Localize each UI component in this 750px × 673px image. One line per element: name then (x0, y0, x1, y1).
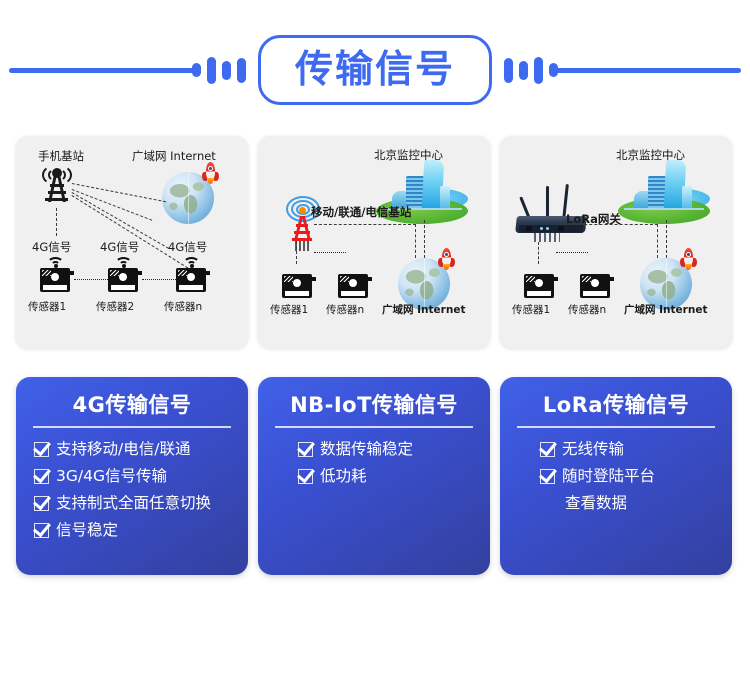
sensor-lens (591, 279, 599, 287)
diagram-label-basestation: 移动/联通/电信基站 (311, 204, 411, 220)
diagram-label-sensor-1: 传感器1 (512, 302, 550, 317)
tower-crossbar (294, 231, 310, 234)
feature-item-label: 随时登陆平台 (562, 466, 655, 487)
diagram-label-sensor-n: 传感器n (164, 299, 202, 314)
city-building-thin (682, 186, 692, 208)
tower-crossbar (50, 184, 64, 187)
diagram-card-lora: 北京监控中心 (500, 136, 732, 348)
feature-item: 低功耗 (298, 466, 367, 487)
sensor-hatch (42, 270, 51, 276)
page-title-box: 传输信号 (258, 35, 492, 105)
sound-wave-bars-left-icon (9, 50, 246, 90)
sensor-lens (119, 273, 127, 281)
deco-bar (237, 58, 246, 83)
page-title: 传输信号 (295, 50, 455, 88)
sensor-device-icon (176, 258, 206, 292)
link-center-to-globe (666, 220, 667, 258)
check-icon (540, 442, 555, 457)
deco-line-left (9, 68, 194, 73)
sensor-connector (367, 277, 372, 281)
sensor-device-icon (338, 264, 368, 298)
link-vertical (657, 224, 658, 258)
feature-row: 4G传输信号 支持移动/电信/联通 3G/4G信号传输 支持制式全面任意切换 (16, 377, 734, 575)
rocket-window (686, 252, 691, 257)
deco-bar (504, 58, 513, 83)
rocket-window (444, 252, 449, 257)
sensor-connector (311, 277, 316, 281)
feature-item-label: 低功耗 (320, 466, 367, 487)
check-icon (298, 469, 313, 484)
router-antenna (546, 186, 549, 220)
feature-item-label: 无线传输 (562, 439, 624, 460)
feature-item: 随时登陆平台 (540, 466, 655, 487)
sensor-lens (349, 279, 357, 287)
link-dashed-vertical (56, 208, 57, 236)
check-icon (540, 469, 555, 484)
feature-item: 无线传输 (540, 439, 624, 460)
sensor-display (341, 291, 365, 296)
link-gateway-to-globe (564, 224, 658, 225)
feature-item-label: 支持制式全面任意切换 (56, 493, 211, 514)
router-led (546, 227, 549, 230)
rocket-flame (444, 264, 449, 270)
feature-item-label: 数据传输稳定 (320, 439, 413, 460)
sensor-hatch (284, 276, 293, 282)
sensor-device-icon (524, 264, 554, 298)
sensor-chain-dotted (74, 279, 108, 280)
sensor-display (527, 291, 551, 296)
deco-bar (534, 57, 543, 84)
sensor-wifi-icon (47, 257, 64, 268)
sensor-lens (535, 279, 543, 287)
link-vertical (415, 224, 416, 258)
diagram-label-sensor-1: 传感器1 (28, 299, 66, 314)
feature-divider (517, 426, 715, 428)
feature-card-title: LoRa传输信号 (543, 393, 689, 417)
sensor-hatch (178, 270, 187, 276)
feature-card-nbiot[interactable]: NB-IoT传输信号 数据传输稳定 低功耗 (258, 377, 490, 575)
sound-wave-bars-right-icon (504, 50, 741, 90)
sensor-device-icon (282, 264, 312, 298)
sensor-connector (137, 271, 142, 275)
rocket-icon (680, 248, 697, 270)
city-ground-line (624, 208, 704, 210)
feature-list: 支持移动/电信/联通 3G/4G信号传输 支持制式全面任意切换 信号稳定 (28, 439, 236, 541)
deco-bars-right (504, 57, 558, 84)
feature-item-label: 支持移动/电信/联通 (56, 439, 190, 460)
deco-line-right (556, 68, 741, 73)
sensor-device-icon (580, 264, 610, 298)
sensor-wifi-icon (183, 257, 200, 268)
deco-bar (519, 61, 528, 80)
deco-bar (192, 63, 201, 77)
diagram-label-internet: 广域网 Internet (382, 302, 465, 317)
sensor-display (583, 291, 607, 296)
sensor-hatch (340, 276, 349, 282)
feature-divider (275, 426, 473, 428)
feature-item-label: 3G/4G信号传输 (56, 466, 167, 487)
globe-meridian (188, 172, 189, 224)
tower-crossbar (296, 224, 308, 227)
feature-item: 3G/4G信号传输 (34, 466, 167, 487)
sensor-display (111, 285, 135, 290)
diagram-label-sensor-1: 传感器1 (270, 302, 308, 317)
sensor-wifi-icon (115, 257, 132, 268)
rocket-flame (686, 264, 691, 270)
diagram-row: 手机基站 广域网 Internet (16, 136, 734, 348)
diagram-label-sensor-n: 传感器n (326, 302, 364, 317)
diagram-label-tower: 手机基站 (38, 148, 84, 164)
feature-item: 支持制式全面任意切换 (34, 493, 211, 514)
sensor-connector (205, 271, 210, 275)
router-led (540, 227, 543, 230)
sensor-lens (187, 273, 195, 281)
sensor-connector (553, 277, 558, 281)
deco-bars-left (192, 57, 246, 84)
feature-card-lora[interactable]: LoRa传输信号 无线传输 随时登陆平台 查看数据 (500, 377, 732, 575)
diagram-label-internet: 广域网 Internet (624, 302, 707, 317)
check-icon (34, 442, 49, 457)
city-building-thin (440, 186, 450, 208)
feature-card-4g[interactable]: 4G传输信号 支持移动/电信/联通 3G/4G信号传输 支持制式全面任意切换 (16, 377, 248, 575)
sensor-lens (51, 273, 59, 281)
feature-item: 信号稳定 (34, 520, 118, 541)
tower-crossbar (48, 191, 66, 194)
sensor-chain-dotted (314, 252, 346, 253)
feature-list: 数据传输稳定 低功耗 (270, 439, 478, 487)
link-sensor-up (538, 242, 539, 264)
diagram-label-signal-1: 4G信号 (32, 239, 71, 255)
sensor-display (285, 291, 309, 296)
rocket-flame (208, 178, 213, 184)
sensor-connector (609, 277, 614, 281)
feature-card-title: 4G传输信号 (73, 393, 192, 417)
feature-item-label: 查看数据 (565, 493, 627, 514)
feature-list: 无线传输 随时登陆平台 查看数据 (512, 439, 720, 514)
sensor-hatch (526, 276, 535, 282)
diagram-label-sensor-2: 传感器2 (96, 299, 134, 314)
feature-item: 查看数据 (540, 493, 627, 514)
feature-item: 支持移动/电信/联通 (34, 439, 190, 460)
diagram-label-signal-3: 4G信号 (168, 239, 207, 255)
check-icon (34, 496, 49, 511)
check-icon (34, 469, 49, 484)
diagram-card-4g: 手机基站 广域网 Internet (16, 136, 248, 348)
feature-divider (33, 426, 231, 428)
monitoring-center-buildings-icon (618, 164, 710, 226)
sensor-device-icon (108, 258, 138, 292)
link-center-to-globe (424, 220, 425, 258)
deco-bar (222, 61, 231, 80)
tower-base (295, 241, 310, 251)
sensor-lens (293, 279, 301, 287)
sensor-display (43, 285, 67, 290)
sensor-hatch (110, 270, 119, 276)
sensor-hatch (582, 276, 591, 282)
check-icon (34, 523, 49, 538)
tower-core-dot (299, 207, 306, 214)
feature-item-label: 信号稳定 (56, 520, 118, 541)
router-cables (534, 233, 560, 242)
deco-bar (207, 57, 216, 84)
router-port (526, 226, 532, 231)
feature-item: 数据传输稳定 (298, 439, 413, 460)
cell-tower-icon (34, 164, 80, 208)
tower-crossbar (45, 198, 68, 201)
rocket-icon (202, 162, 219, 184)
page-root: 传输信号 手机基站 广域网 Internet (0, 0, 750, 673)
sensor-chain-dotted (556, 252, 588, 253)
diagram-label-signal-2: 4G信号 (100, 239, 139, 255)
page-header: 传输信号 (0, 24, 750, 116)
link-tower-to-globe (314, 224, 416, 225)
router-port (558, 226, 564, 231)
rocket-icon (438, 248, 455, 270)
rocket-window (208, 166, 213, 171)
check-icon (298, 442, 313, 457)
sensor-connector (69, 271, 74, 275)
sensor-device-icon (40, 258, 70, 292)
link-sensor-up (296, 241, 297, 264)
diagram-label-sensor-n: 传感器n (568, 302, 606, 317)
sensor-chain-dotted (142, 279, 176, 280)
diagram-card-nbiot: 北京监控中心 (258, 136, 490, 348)
feature-card-title: NB-IoT传输信号 (290, 393, 458, 417)
sensor-display (179, 285, 203, 290)
